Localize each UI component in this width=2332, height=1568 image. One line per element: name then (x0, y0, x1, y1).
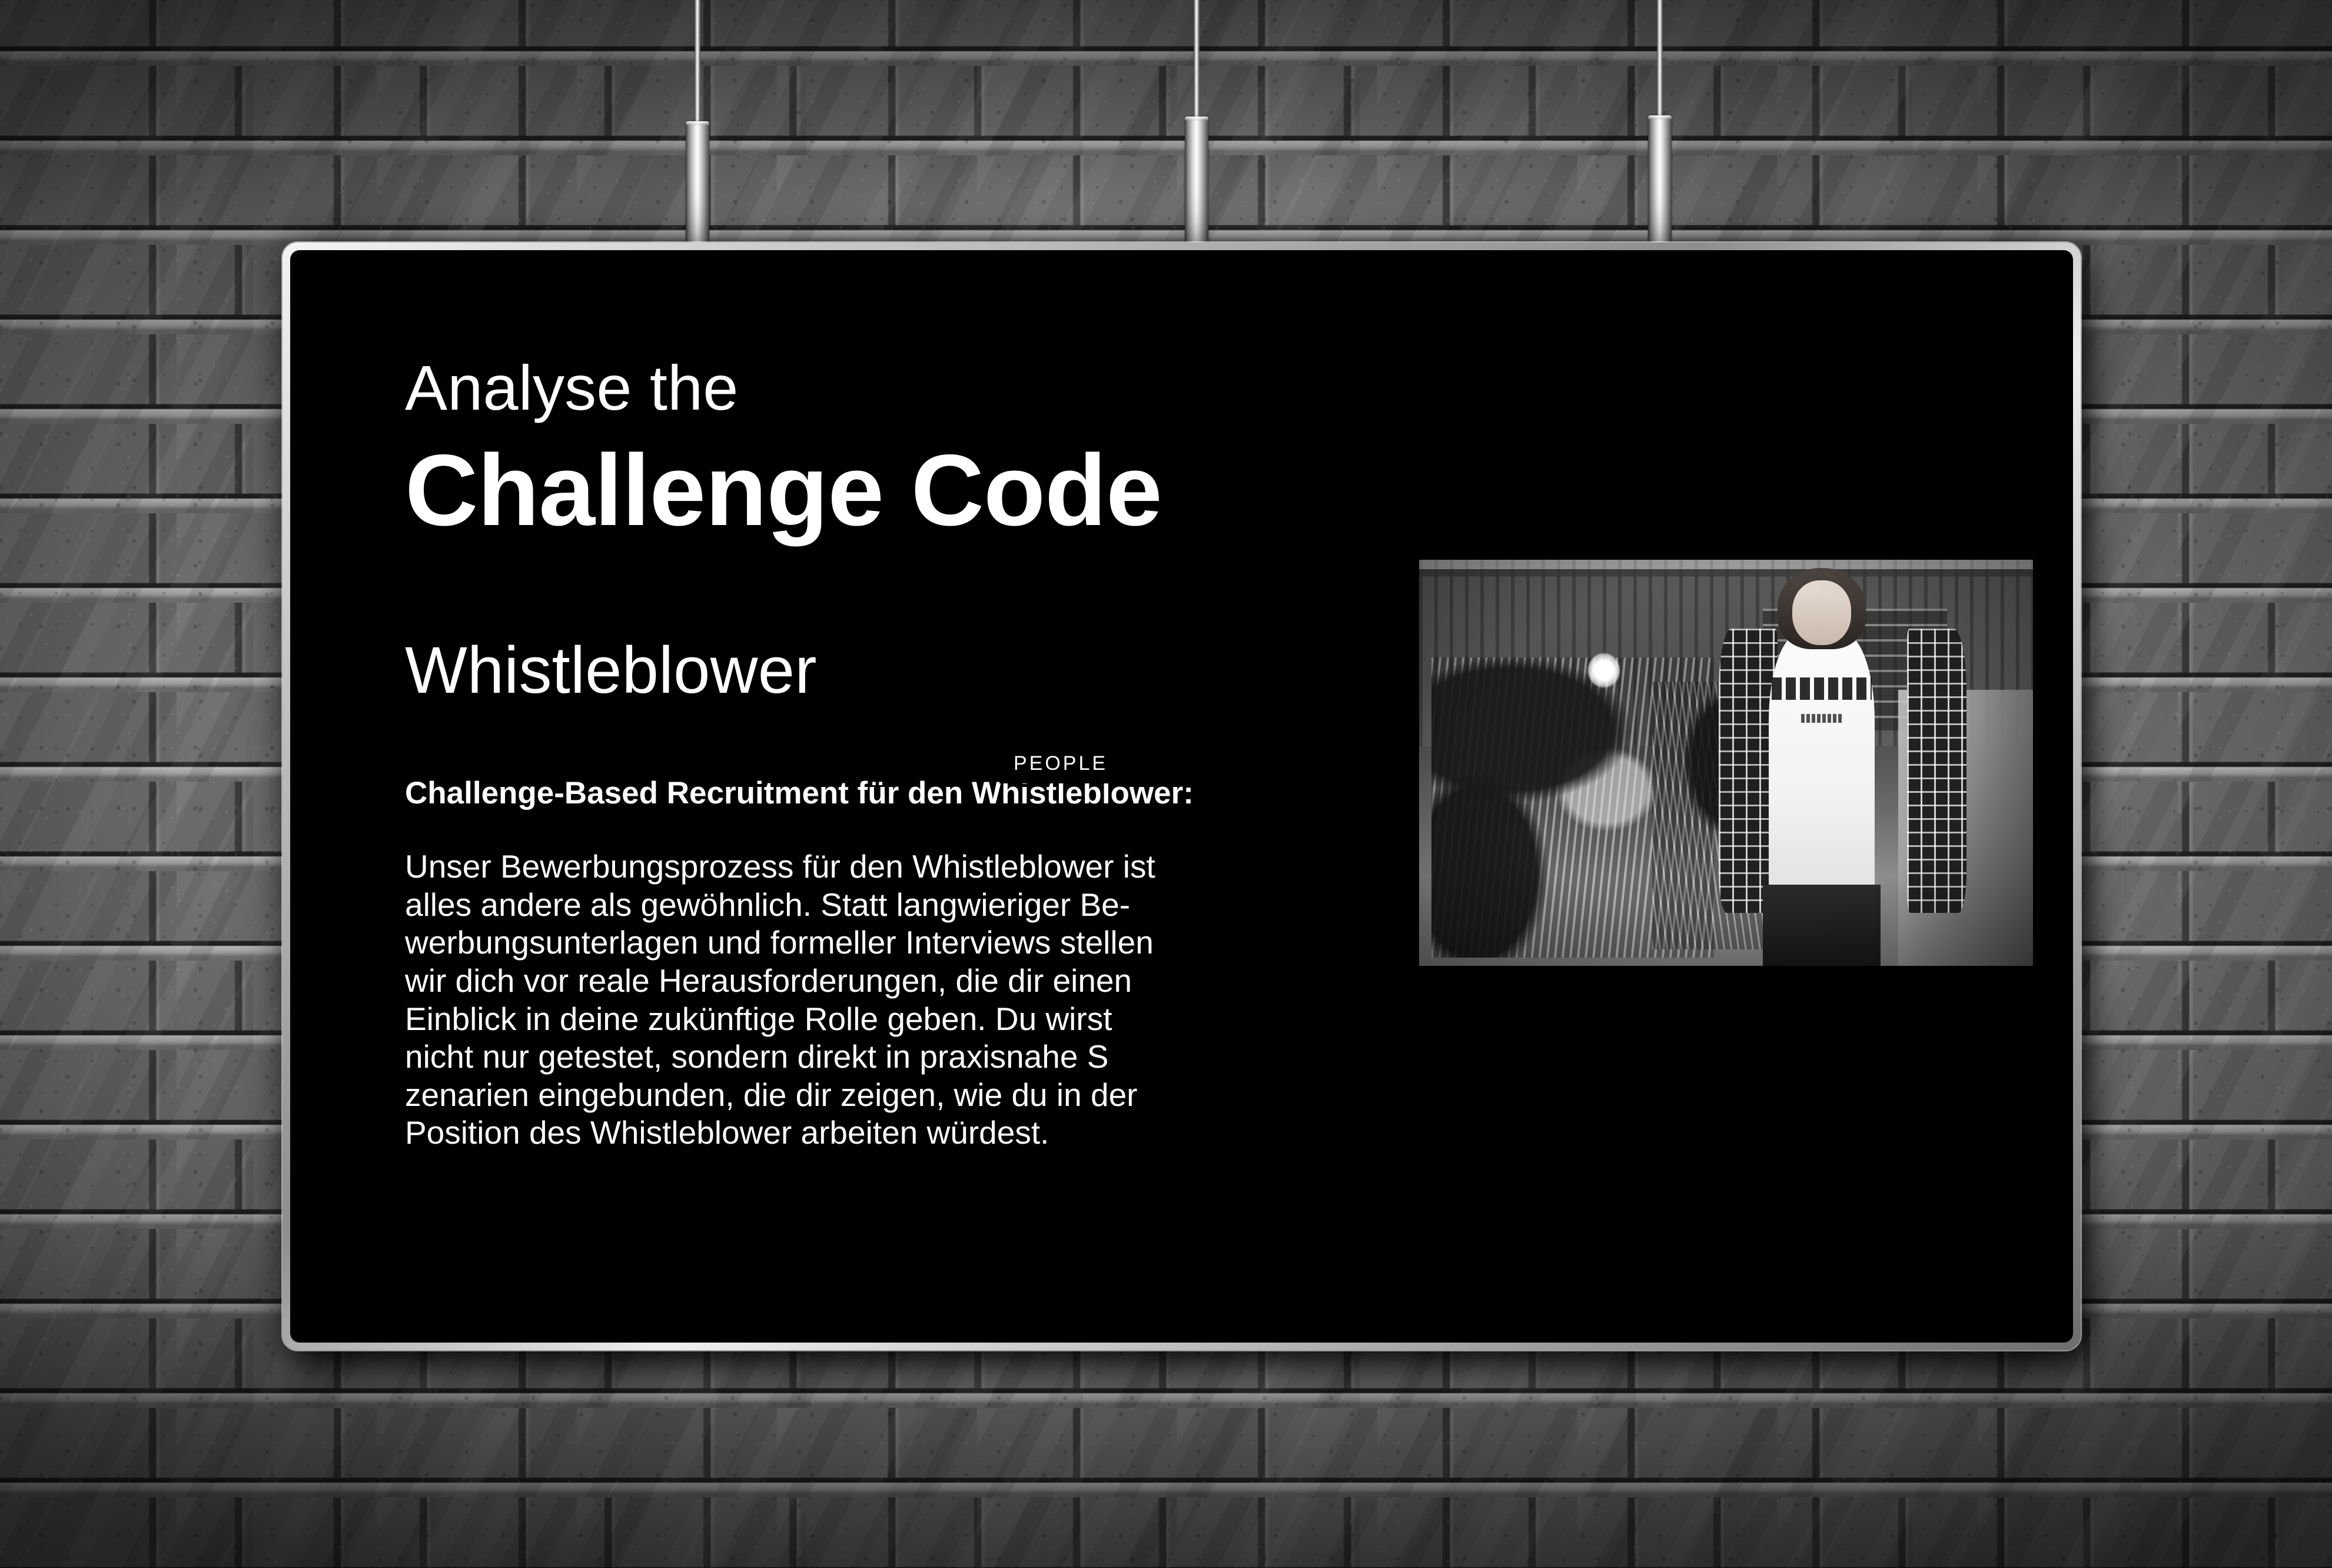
suspension-cable-left (695, 0, 700, 126)
slide-eyebrow: Analyse the (405, 356, 1370, 420)
slide-role-title: Whistleblower (405, 637, 1370, 703)
suspension-sleeve-center (1185, 117, 1208, 246)
suspension-cable-center (1194, 0, 1200, 121)
photo-garage-portrait (1419, 560, 2033, 966)
slide-body-copy: Unser Bewerbungsprozess für den Whistleb… (405, 848, 1370, 1152)
display-screen: Analyse the Challenge Code Whistleblower… (290, 250, 2073, 1343)
suspension-sleeve-left (686, 121, 709, 246)
slide-photo-block (1419, 560, 2033, 966)
photo-category-label: PEOPLE (999, 752, 1108, 775)
slide-text-column: Analyse the Challenge Code Whistleblower… (405, 356, 1370, 1152)
suspension-sleeve-right (1648, 115, 1672, 246)
slide-lede: Challenge-Based Recruitment für den Whis… (405, 778, 1370, 809)
slide-headline: Challenge Code (405, 440, 1370, 541)
display-frame: Analyse the Challenge Code Whistleblower… (283, 242, 2081, 1350)
photo-category-badge: PEOPLE (999, 743, 1157, 783)
photo-vignette (1419, 560, 2033, 966)
suspension-cable-right (1657, 0, 1663, 120)
